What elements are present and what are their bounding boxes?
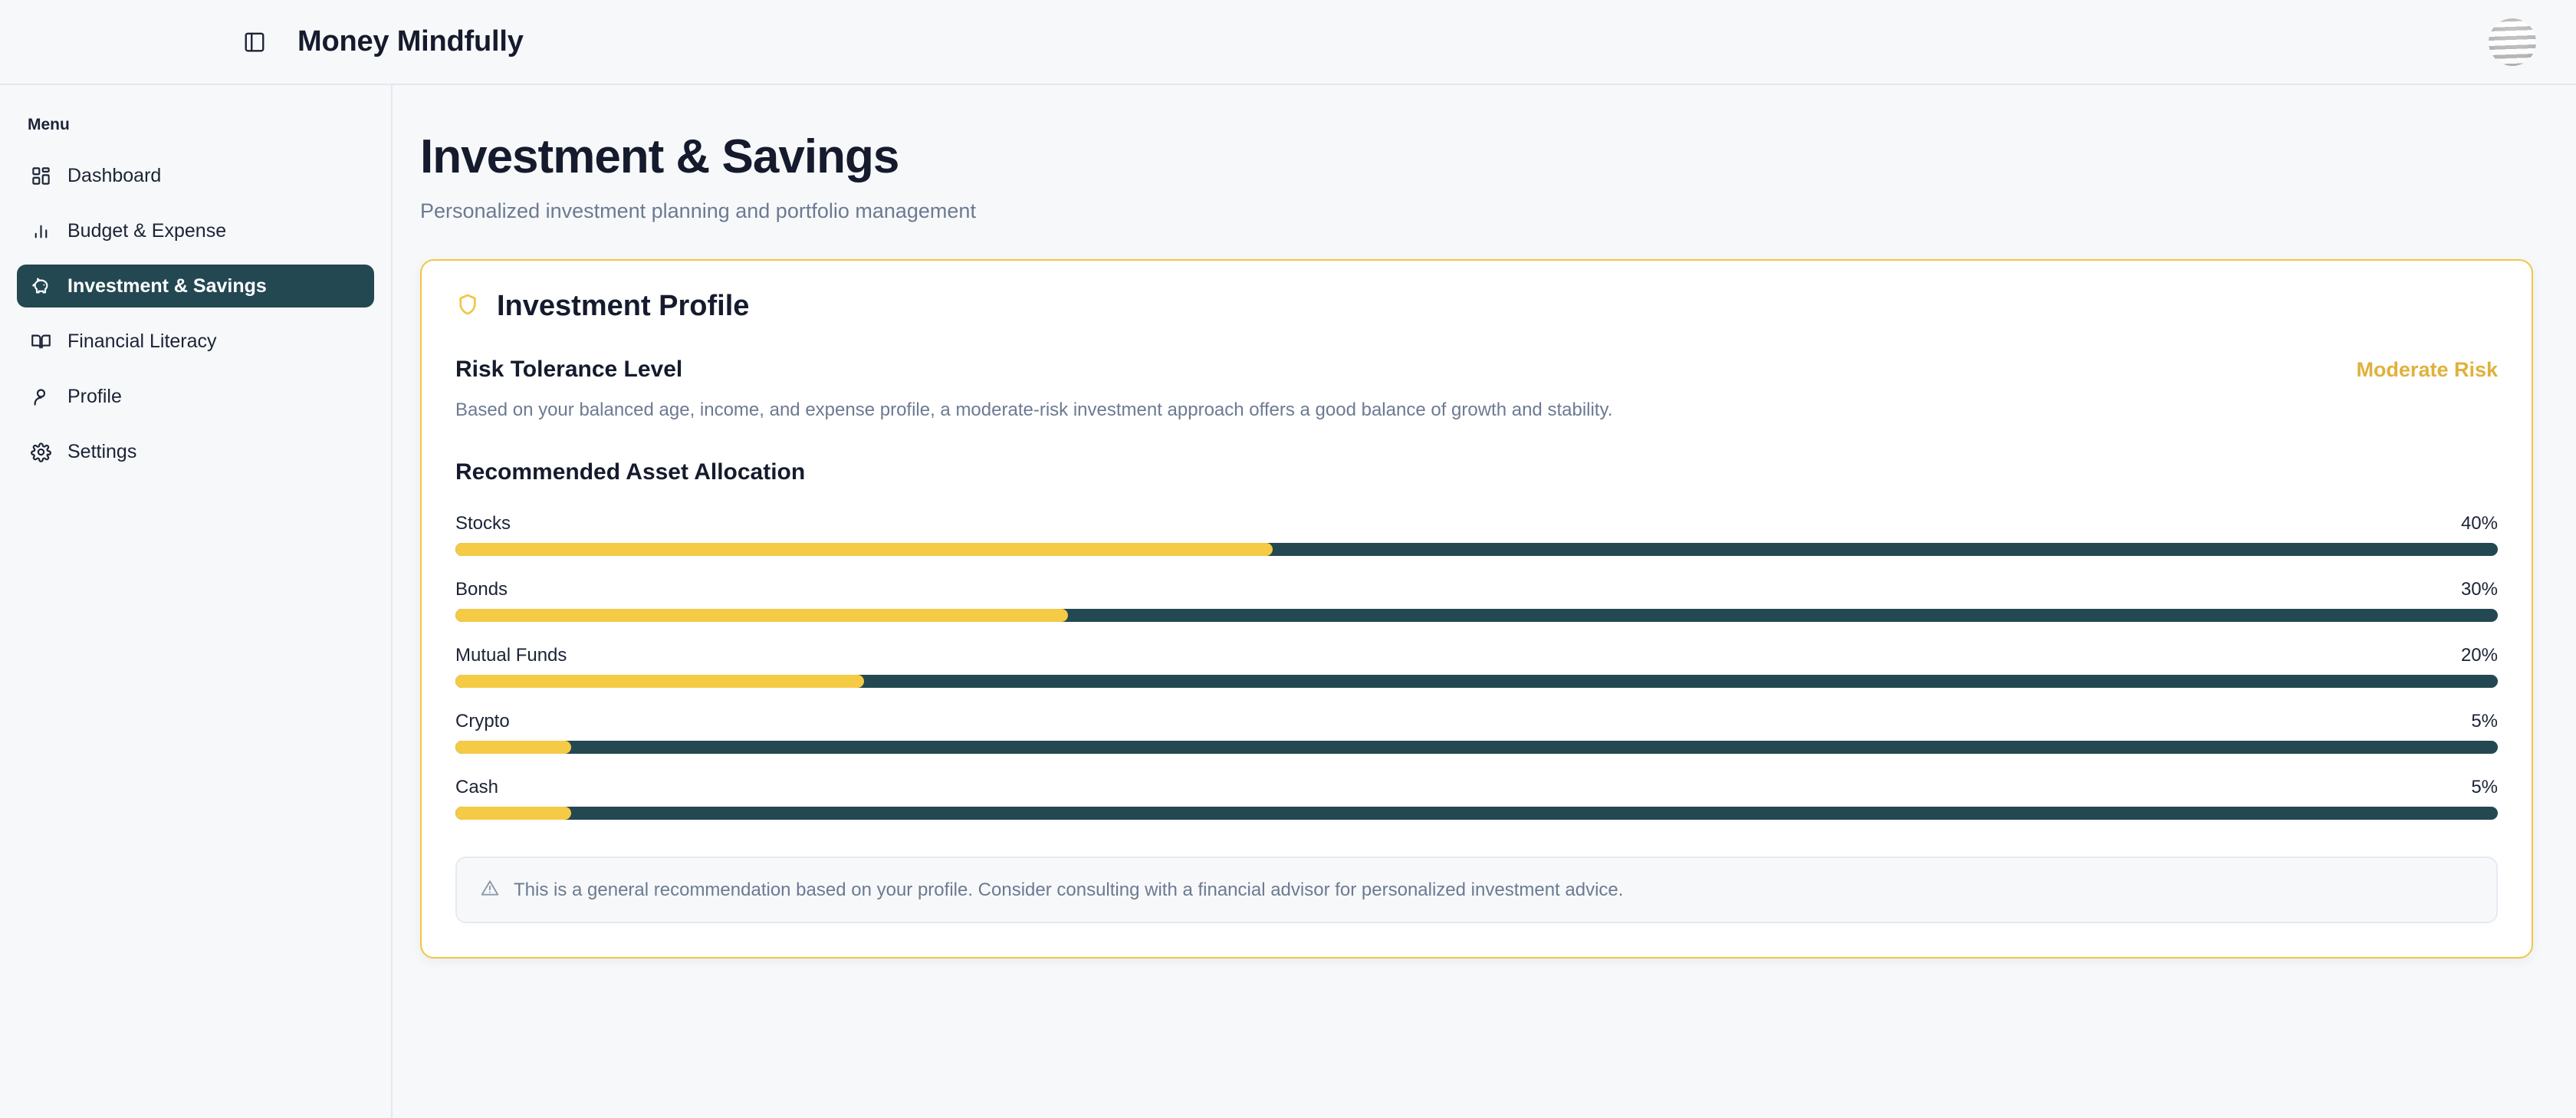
sidebar-item-label: Investment & Savings — [67, 275, 267, 298]
risk-tolerance-row: Risk Tolerance Level Moderate Risk — [455, 357, 2498, 383]
allocation-row: Crypto5% — [455, 711, 2498, 754]
allocation-progress-fill — [455, 741, 571, 754]
bar-chart-icon — [29, 219, 52, 242]
disclaimer-box: This is a general recommendation based o… — [455, 857, 2498, 923]
sidebar-item-settings[interactable]: Settings — [17, 430, 374, 473]
allocation-row-header: Stocks40% — [455, 513, 2498, 534]
app-title: Money Mindfully — [297, 25, 524, 58]
sidebar-item-label: Settings — [67, 441, 136, 463]
allocation-asset-label: Crypto — [455, 711, 510, 732]
allocation-progress-track — [455, 807, 2498, 820]
allocation-heading: Recommended Asset Allocation — [455, 459, 2498, 485]
app-root: Money Mindfully Menu Dashboard Budget & … — [0, 0, 2576, 1118]
user-avatar[interactable] — [2489, 18, 2536, 66]
grid-icon — [29, 164, 52, 187]
sidebar-item-label: Profile — [67, 386, 122, 408]
risk-description: Based on your balanced age, income, and … — [455, 400, 2498, 421]
sidebar-section-label: Menu — [17, 116, 374, 134]
warning-triangle-icon — [480, 878, 500, 902]
allocation-progress-fill — [455, 675, 864, 688]
allocation-percent-label: 40% — [2461, 513, 2498, 534]
sidebar-item-label: Financial Literacy — [67, 330, 217, 353]
piggy-bank-icon — [29, 275, 52, 298]
risk-tolerance-heading: Risk Tolerance Level — [455, 357, 682, 383]
allocation-row: Stocks40% — [455, 513, 2498, 556]
allocation-percent-label: 5% — [2471, 711, 2498, 732]
allocation-asset-label: Stocks — [455, 513, 511, 534]
gear-icon — [29, 440, 52, 463]
allocation-row-header: Bonds30% — [455, 579, 2498, 600]
disclaimer-text: This is a general recommendation based o… — [514, 880, 1623, 901]
page-subtitle: Personalized investment planning and por… — [420, 199, 2533, 223]
panel-toggle-icon[interactable] — [238, 25, 271, 59]
allocation-progress-fill — [455, 807, 571, 820]
allocation-asset-label: Bonds — [455, 579, 508, 600]
sidebar-item-profile[interactable]: Profile — [17, 375, 374, 418]
allocation-percent-label: 5% — [2471, 777, 2498, 798]
allocation-row: Mutual Funds20% — [455, 645, 2498, 688]
main-content: Investment & Savings Personalized invest… — [393, 85, 2576, 1118]
user-icon — [29, 385, 52, 408]
book-open-icon — [29, 330, 52, 353]
top-header: Money Mindfully — [0, 0, 2576, 85]
allocation-row: Cash5% — [455, 777, 2498, 820]
allocation-progress-fill — [455, 543, 1273, 556]
card-header: Investment Profile — [455, 290, 2498, 323]
sidebar: Menu Dashboard Budget & Expense Investme… — [0, 85, 393, 1118]
asset-allocation-list: Stocks40%Bonds30%Mutual Funds20%Crypto5%… — [455, 513, 2498, 820]
allocation-row-header: Cash5% — [455, 777, 2498, 798]
body-container: Menu Dashboard Budget & Expense Investme… — [0, 85, 2576, 1118]
investment-profile-card: Investment Profile Risk Tolerance Level … — [420, 259, 2533, 959]
allocation-percent-label: 20% — [2461, 645, 2498, 666]
risk-level-badge: Moderate Risk — [2356, 358, 2498, 382]
sidebar-item-label: Dashboard — [67, 165, 161, 187]
sidebar-item-dashboard[interactable]: Dashboard — [17, 154, 374, 197]
sidebar-item-financial-literacy[interactable]: Financial Literacy — [17, 320, 374, 363]
allocation-percent-label: 30% — [2461, 579, 2498, 600]
card-title: Investment Profile — [497, 290, 749, 323]
allocation-row: Bonds30% — [455, 579, 2498, 622]
avatar-image — [2489, 18, 2536, 66]
allocation-asset-label: Mutual Funds — [455, 645, 567, 666]
allocation-progress-track — [455, 543, 2498, 556]
shield-icon — [455, 292, 480, 321]
sidebar-item-label: Budget & Expense — [67, 220, 226, 242]
sidebar-item-budget-expense[interactable]: Budget & Expense — [17, 209, 374, 252]
page-title: Investment & Savings — [420, 130, 2533, 184]
allocation-row-header: Mutual Funds20% — [455, 645, 2498, 666]
sidebar-item-investment-savings[interactable]: Investment & Savings — [17, 265, 374, 307]
allocation-progress-track — [455, 741, 2498, 754]
allocation-row-header: Crypto5% — [455, 711, 2498, 732]
allocation-progress-track — [455, 609, 2498, 622]
allocation-progress-fill — [455, 609, 1068, 622]
allocation-asset-label: Cash — [455, 777, 498, 798]
allocation-progress-track — [455, 675, 2498, 688]
